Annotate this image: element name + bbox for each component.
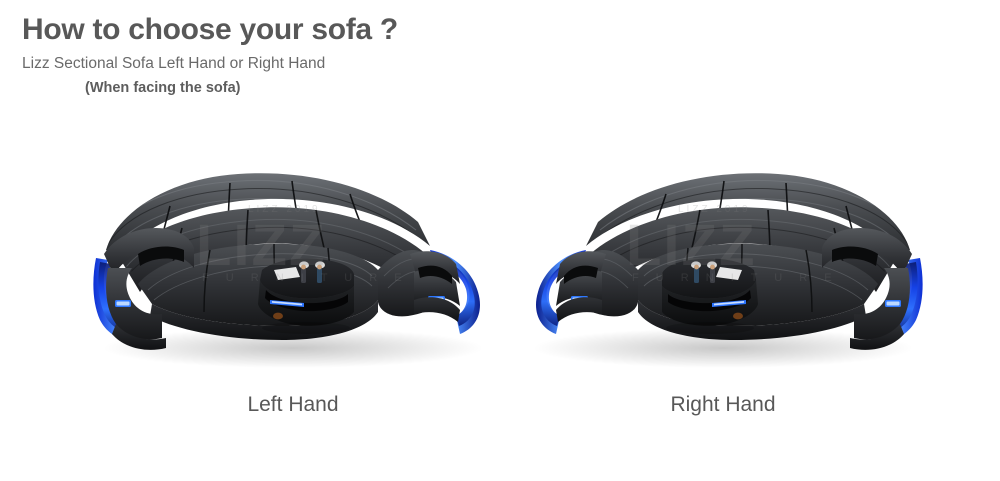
sofa-right-armrest-led — [536, 250, 606, 334]
page-title: How to choose your sofa ? — [22, 13, 398, 47]
sofa-right-armrest-led — [410, 250, 480, 334]
product-comparison: LIZZ 2019 LIZZ F U R N I T U R E Left Ha… — [0, 150, 1000, 450]
product-left-hand[interactable]: LIZZ 2019 LIZZ F U R N I T U R E Left Ha… — [78, 150, 508, 450]
product-caption-right-hand: Right Hand — [508, 393, 938, 417]
page-note: (When facing the sofa) — [85, 80, 240, 96]
table-amber-accent — [733, 313, 743, 320]
table-amber-accent — [273, 313, 283, 320]
sofa-image-right-hand: LIZZ 2019 LIZZ F U R N I T U R E — [508, 150, 938, 380]
sofa-icon — [508, 150, 938, 380]
page-subtitle: Lizz Sectional Sofa Left Hand or Right H… — [22, 55, 325, 73]
sofa-icon — [78, 150, 508, 380]
product-caption-left-hand: Left Hand — [78, 393, 508, 417]
sofa-image-left-hand: LIZZ 2019 LIZZ F U R N I T U R E — [78, 150, 508, 380]
product-right-hand[interactable]: LIZZ 2019 LIZZ F U R N I T U R E Right H… — [508, 150, 938, 450]
